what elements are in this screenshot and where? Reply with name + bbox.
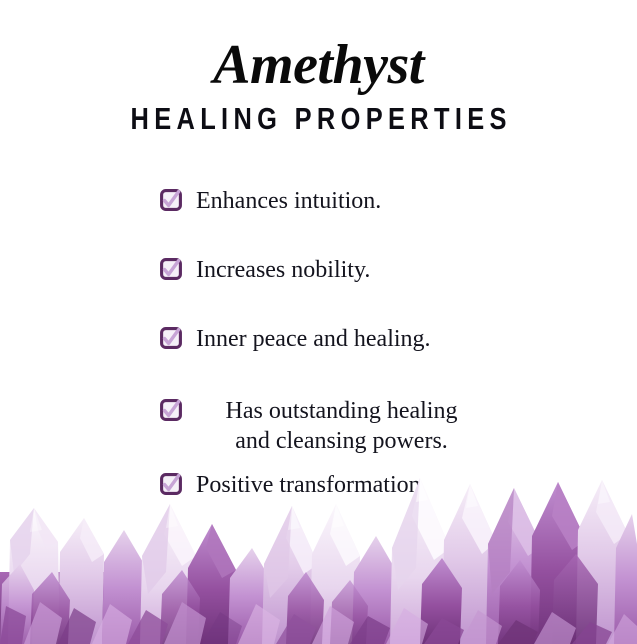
list-item: Inner peace and healing.	[0, 324, 637, 368]
list-item-label: Inner peace and healing.	[0, 324, 637, 354]
header: Amethyst HEALING PROPERTIES	[0, 0, 637, 136]
page-title: Amethyst	[0, 34, 637, 96]
checked-checkbox-icon	[160, 399, 182, 421]
list-item-label: Increases nobility.	[0, 255, 637, 285]
list-item: Enhances intuition.	[0, 186, 637, 230]
checked-checkbox-icon	[160, 189, 182, 211]
list-item: Increases nobility.	[0, 255, 637, 299]
poster-canvas: Amethyst HEALING PROPERTIES Enhances int…	[0, 0, 637, 644]
page-subtitle: HEALING PROPERTIES	[57, 102, 579, 136]
list-item-label: Enhances intuition.	[0, 186, 637, 216]
amethyst-crystal-cluster	[0, 444, 637, 644]
checked-checkbox-icon	[160, 258, 182, 280]
checked-checkbox-icon	[160, 327, 182, 349]
